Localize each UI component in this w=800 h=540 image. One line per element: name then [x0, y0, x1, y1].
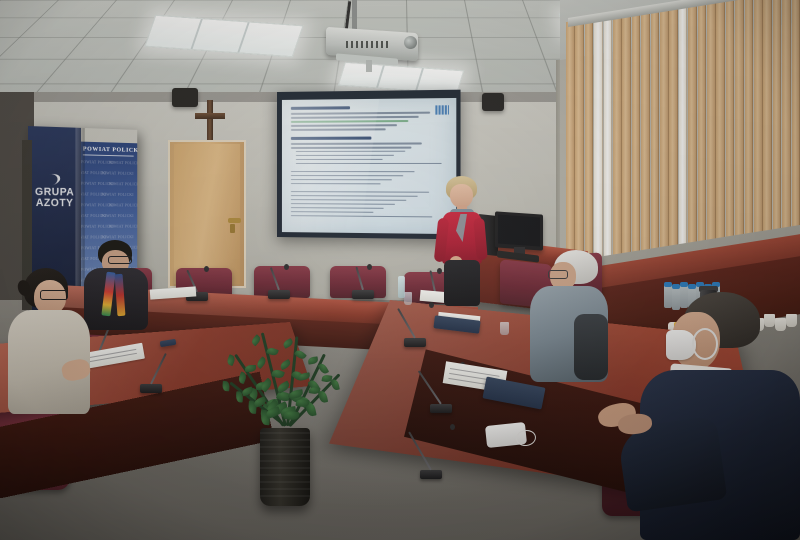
microphone-stem	[397, 308, 416, 338]
water-bottle	[398, 276, 405, 298]
microphone-base[interactable]	[430, 404, 452, 413]
person-attendee-right-middle	[528, 250, 614, 390]
attendee-glasses-icon	[548, 270, 568, 279]
plant-leaf	[275, 380, 290, 393]
microphone-base[interactable]	[420, 470, 442, 479]
face-mask-ear-loop	[692, 328, 718, 360]
plant-leaf	[245, 365, 256, 372]
microphone-stem	[355, 267, 364, 291]
microphone-head	[367, 264, 372, 270]
person-presenter	[430, 176, 492, 308]
plant-leaf	[223, 381, 230, 391]
microphone-head	[204, 266, 209, 272]
meeting-room-photo: POWIAT POLICKI POWIAT POLICKIPOWIAT POLI…	[0, 0, 800, 540]
microphone-stem	[418, 370, 442, 404]
microphone-base[interactable]	[352, 290, 374, 299]
plant-pot-ribs	[260, 432, 310, 502]
plant-leaf	[282, 338, 294, 348]
plant-leaf	[317, 362, 328, 375]
plant-leaf	[294, 348, 307, 360]
microphone-stem	[150, 353, 167, 384]
presenter-skirt	[444, 260, 480, 306]
water-glass	[404, 292, 412, 305]
presenter-arm-right	[473, 218, 488, 261]
attendee-arm	[574, 314, 608, 380]
water-glass	[500, 322, 509, 335]
potted-plant	[214, 300, 364, 510]
plant-leaf	[279, 359, 293, 371]
microphone-base[interactable]	[404, 338, 426, 347]
attendee-glasses-icon	[40, 290, 68, 300]
attendee-glasses-icon	[108, 256, 132, 264]
plant-leaf	[255, 356, 268, 369]
plant-leaf	[250, 335, 261, 347]
plant-leaf	[308, 356, 318, 364]
plant-leaf	[318, 390, 328, 404]
person-attendee-front-right	[640, 292, 800, 540]
person-attendee-front-left	[6, 268, 102, 418]
microphone-stem	[270, 267, 280, 290]
microphone-head	[284, 264, 289, 270]
microphone-stem	[408, 431, 432, 470]
microphone-base[interactable]	[140, 384, 162, 393]
plant-leaf	[226, 355, 236, 366]
microphone-base[interactable]	[268, 290, 290, 299]
plant-leaf	[330, 379, 339, 391]
microphone-head	[450, 424, 455, 430]
